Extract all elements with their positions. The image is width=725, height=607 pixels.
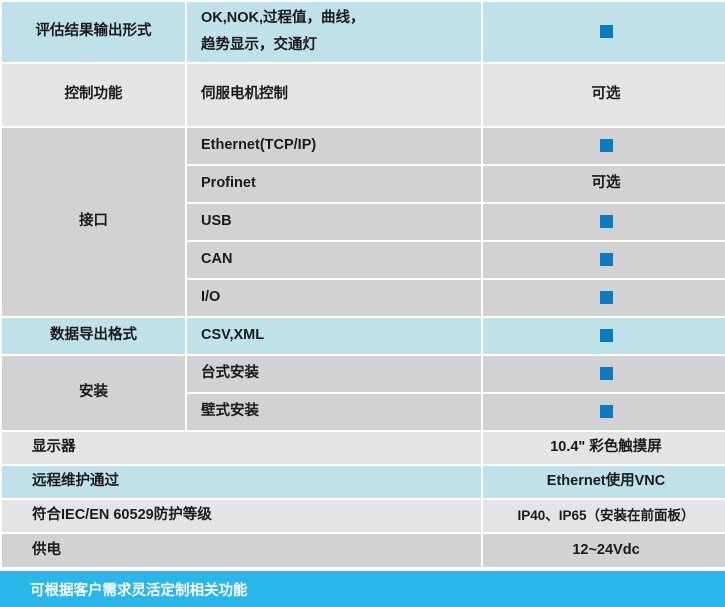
row-value-control-function: 伺服电机控制 xyxy=(187,64,481,126)
row-value-data-export-format: CSV,XML xyxy=(187,318,481,354)
check-square-icon xyxy=(600,25,613,38)
row-label-display: 显示器 xyxy=(2,432,481,464)
row-value-interface-profinet: Profinet xyxy=(187,166,481,202)
row-mark-interface-usb xyxy=(483,204,725,240)
row-label-installation: 安装 xyxy=(2,356,185,430)
row-mark-interface-profinet: 可选 xyxy=(483,166,725,202)
row-mark-data-export-format xyxy=(483,318,725,354)
row-label-power-supply: 供电 xyxy=(2,534,481,567)
row-value-ingress-protection: IP40、IP65（安装在前面板） xyxy=(483,500,725,532)
customization-banner-text: 可根据客户需求灵活定制相关功能 xyxy=(30,579,248,600)
row-label-control-function: 控制功能 xyxy=(2,64,185,126)
table-row: 显示器 10.4" 彩色触摸屏 xyxy=(2,432,725,464)
table-row: 评估结果输出形式 OK,NOK,过程值，曲线， 趋势显示，交通灯 xyxy=(2,2,725,62)
row-value-installation-wall: 壁式安装 xyxy=(187,394,481,430)
row-value-interface-io: I/O xyxy=(187,280,481,316)
table-row: 数据导出格式 CSV,XML xyxy=(2,318,725,354)
check-square-icon xyxy=(600,405,613,418)
row-value-installation-desktop: 台式安装 xyxy=(187,356,481,392)
row-mark-evaluation-output xyxy=(483,2,725,62)
row-label-ingress-protection: 符合IEC/EN 60529防护等级 xyxy=(2,500,481,532)
row-mark-installation-desktop xyxy=(483,356,725,392)
row-value-display: 10.4" 彩色触摸屏 xyxy=(483,432,725,464)
row-value-power-supply: 12~24Vdc xyxy=(483,534,725,567)
check-square-icon xyxy=(600,291,613,304)
row-value-remote-maintenance: Ethernet使用VNC xyxy=(483,466,725,498)
row-mark-interface-io xyxy=(483,280,725,316)
row-value-interface-can: CAN xyxy=(187,242,481,278)
row-label-interface: 接口 xyxy=(2,128,185,316)
row-label-data-export-format: 数据导出格式 xyxy=(2,318,185,354)
specification-table: 评估结果输出形式 OK,NOK,过程值，曲线， 趋势显示，交通灯 控制功能 伺服… xyxy=(0,0,725,569)
row-value-evaluation-output: OK,NOK,过程值，曲线， 趋势显示，交通灯 xyxy=(187,2,481,62)
row-value-interface-ethernet: Ethernet(TCP/IP) xyxy=(187,128,481,164)
check-square-icon xyxy=(600,139,613,152)
row-mark-interface-ethernet xyxy=(483,128,725,164)
row-value-interface-usb: USB xyxy=(187,204,481,240)
value-line: 趋势显示，交通灯 xyxy=(201,32,467,59)
table-row: 符合IEC/EN 60529防护等级 IP40、IP65（安装在前面板） xyxy=(2,500,725,532)
table-row: 控制功能 伺服电机控制 可选 xyxy=(2,64,725,126)
check-square-icon xyxy=(600,215,613,228)
check-square-icon xyxy=(600,367,613,380)
row-mark-installation-wall xyxy=(483,394,725,430)
table-row: 安装 台式安装 xyxy=(2,356,725,392)
table-row: 接口 Ethernet(TCP/IP) xyxy=(2,128,725,164)
row-label-remote-maintenance: 远程维护通过 xyxy=(2,466,481,498)
row-mark-control-function: 可选 xyxy=(483,64,725,126)
check-square-icon xyxy=(600,329,613,342)
row-mark-interface-can xyxy=(483,242,725,278)
table-row: 供电 12~24Vdc xyxy=(2,534,725,567)
customization-banner: 可根据客户需求灵活定制相关功能 xyxy=(0,571,725,607)
check-square-icon xyxy=(600,253,613,266)
row-label-evaluation-output: 评估结果输出形式 xyxy=(2,2,185,62)
table-row: 远程维护通过 Ethernet使用VNC xyxy=(2,466,725,498)
value-line: OK,NOK,过程值，曲线， xyxy=(201,5,467,32)
